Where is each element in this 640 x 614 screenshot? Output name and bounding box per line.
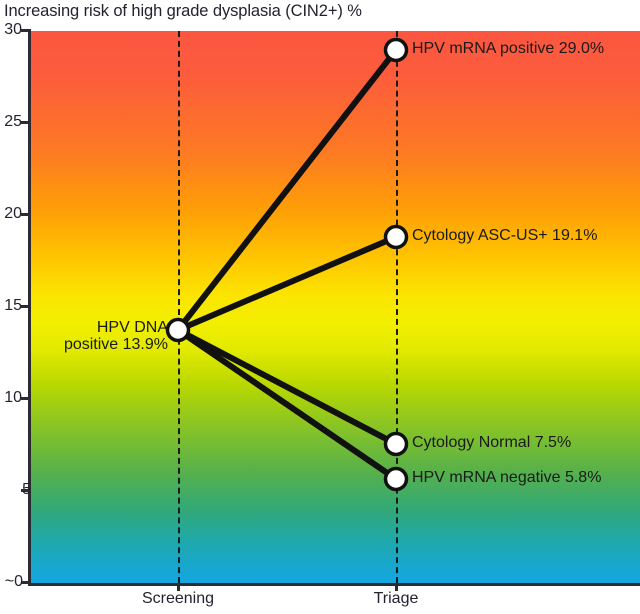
series-lines	[178, 50, 396, 479]
chart-figure: Increasing risk of high grade dysplasia …	[0, 0, 640, 614]
series-markers	[168, 40, 407, 490]
x-tick-label-screening: Screening	[142, 590, 214, 608]
x-tick-label-triage: Triage	[374, 590, 419, 608]
line-hpv-mrna-positive	[178, 50, 396, 330]
label-hpv-dna-positive-line1: HPV DNA	[31, 319, 168, 336]
y-tick-mark-30	[21, 29, 29, 32]
y-tick-label-30: 30	[2, 21, 22, 39]
chart-title: Increasing risk of high grade dysplasia …	[4, 2, 362, 21]
label-hpv-dna-positive: HPV DNA positive 13.9%	[31, 319, 168, 354]
y-tick-label-0: ~0	[0, 573, 23, 591]
marker-cytology-ascus	[386, 227, 407, 248]
line-hpv-mrna-negative	[178, 330, 396, 479]
series-layer	[31, 31, 640, 583]
y-tick-mark-15	[21, 305, 29, 308]
y-tick-label-20: 20	[2, 205, 22, 223]
y-tick-label-5: 5	[11, 481, 31, 499]
marker-cytology-normal	[386, 434, 407, 455]
marker-hpv-mrna-negative	[386, 469, 407, 490]
line-cytology-normal	[178, 330, 396, 444]
plot-area: HPV mRNA positive 29.0% Cytology ASC-US+…	[31, 31, 640, 583]
y-tick-mark-10	[21, 397, 29, 400]
label-cytology-normal: Cytology Normal 7.5%	[412, 434, 571, 451]
marker-hpv-dna-positive	[168, 320, 189, 341]
y-tick-label-25: 25	[2, 113, 22, 131]
label-hpv-mrna-negative: HPV mRNA negative 5.8%	[412, 469, 601, 486]
label-hpv-mrna-positive: HPV mRNA positive 29.0%	[412, 40, 604, 57]
label-cytology-ascus: Cytology ASC-US+ 19.1%	[412, 227, 597, 244]
y-tick-label-15: 15	[2, 297, 22, 315]
y-tick-mark-25	[21, 121, 29, 124]
x-axis-line	[28, 583, 640, 586]
y-tick-mark-20	[21, 213, 29, 216]
y-tick-label-10: 10	[2, 389, 22, 407]
label-hpv-dna-positive-line2: positive 13.9%	[31, 336, 168, 353]
marker-hpv-mrna-positive	[386, 40, 407, 61]
